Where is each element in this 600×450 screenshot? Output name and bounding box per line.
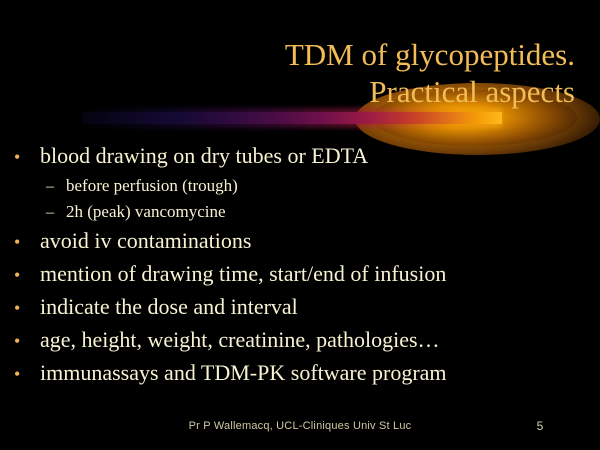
sub-bullet-item: – 2h (peak) vancomycine: [14, 199, 589, 225]
bullet-marker-icon: •: [14, 142, 40, 173]
slide-footer-attribution: Pr P Wallemacq, UCL-Cliniques Univ St Lu…: [0, 420, 600, 432]
presentation-slide: TDM of glycopeptides. Practical aspects …: [0, 0, 600, 450]
bullet-item: • blood drawing on dry tubes or EDTA: [14, 140, 589, 173]
sub-bullet-item: – before perfusion (trough): [14, 173, 589, 199]
dash-marker-icon: –: [46, 174, 66, 199]
slide-title-line-2: Practical aspects: [30, 73, 575, 110]
bullet-marker-icon: •: [14, 359, 40, 390]
bullet-text: immunassays and TDM-PK software program: [40, 357, 589, 388]
bullet-text: blood drawing on dry tubes or EDTA: [40, 140, 589, 171]
bullet-item: • mention of drawing time, start/end of …: [14, 258, 589, 291]
bullet-marker-icon: •: [14, 293, 40, 324]
bullet-marker-icon: •: [14, 227, 40, 258]
bullet-text: avoid iv contaminations: [40, 225, 589, 256]
gradient-bar-glow: [82, 108, 502, 128]
bullet-item: • age, height, weight, creatinine, patho…: [14, 324, 589, 357]
slide-title: TDM of glycopeptides. Practical aspects: [30, 36, 575, 110]
dash-marker-icon: –: [46, 200, 66, 225]
bullet-marker-icon: •: [14, 326, 40, 357]
bullet-item: • avoid iv contaminations: [14, 225, 589, 258]
sub-bullet-text: 2h (peak) vancomycine: [66, 199, 589, 224]
bullet-item: • immunassays and TDM-PK software progra…: [14, 357, 589, 390]
bullet-text: mention of drawing time, start/end of in…: [40, 258, 589, 289]
gradient-bar: [82, 112, 502, 124]
sub-bullet-text: before perfusion (trough): [66, 173, 589, 198]
bullet-text: age, height, weight, creatinine, patholo…: [40, 324, 589, 355]
slide-title-line-1: TDM of glycopeptides.: [30, 36, 575, 73]
bullet-text: indicate the dose and interval: [40, 291, 589, 322]
slide-page-number: 5: [520, 419, 560, 433]
slide-body-bullet-list: • blood drawing on dry tubes or EDTA – b…: [14, 140, 589, 390]
bullet-marker-icon: •: [14, 260, 40, 291]
bullet-item: • indicate the dose and interval: [14, 291, 589, 324]
